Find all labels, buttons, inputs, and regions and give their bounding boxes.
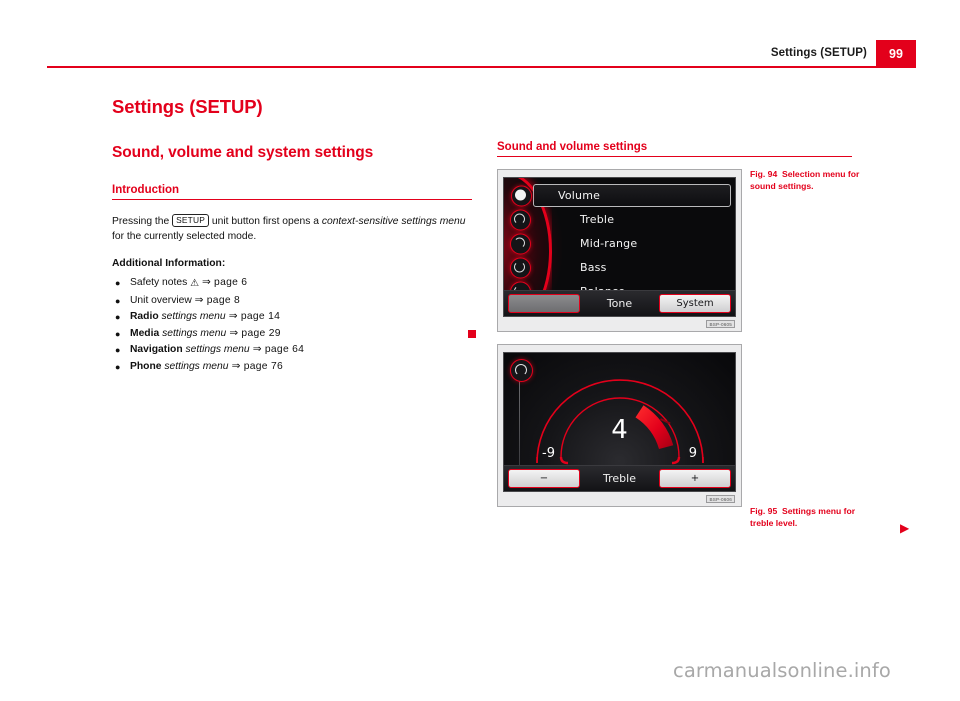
- subsection-title-sound-volume: Sound and volume settings: [497, 141, 917, 156]
- list-item-page-ref[interactable]: ⇒ page 8: [195, 295, 240, 306]
- bullet-icon: ●: [115, 309, 120, 326]
- additional-information-list: ●Safety notes ⚠ ⇒ page 6 ●Unit overview …: [112, 275, 472, 375]
- chapter-title: Settings (SETUP): [112, 96, 472, 118]
- right-figure-column: Sound and volume settings Volume Treble: [497, 141, 917, 507]
- bottom-bar-center-label: Treble: [580, 472, 659, 485]
- increase-button[interactable]: +: [659, 469, 731, 488]
- page-header: Settings (SETUP) 99: [0, 0, 960, 80]
- menu-item-label: Treble: [580, 213, 614, 226]
- list-item-page-ref[interactable]: ⇒ page 6: [202, 277, 247, 288]
- knob-icon-bass: [510, 257, 531, 278]
- menu-item-bass[interactable]: Bass: [533, 256, 731, 279]
- decrease-button[interactable]: −: [508, 469, 580, 488]
- device-screen-treble-settings: 4 -9 9 − Treble +: [503, 352, 736, 492]
- list-item: ●Unit overview ⇒ page 8: [112, 293, 472, 310]
- section-end-marker: [468, 330, 476, 338]
- list-item-bold: Radio: [130, 311, 159, 322]
- gauge-value: 4: [504, 415, 735, 445]
- menu-item-label: Bass: [580, 261, 607, 274]
- intro-text-before-key: Pressing the: [112, 216, 172, 227]
- list-item-bold: Phone: [130, 361, 161, 372]
- intro-text-after-key: unit button first opens a: [209, 216, 322, 227]
- bullet-icon: ●: [115, 342, 120, 359]
- list-item-page-ref[interactable]: ⇒ page 29: [226, 328, 281, 339]
- subsection-rule: [497, 156, 852, 157]
- treble-bottom-bar: − Treble +: [504, 465, 735, 491]
- treble-gauge: 4 -9 9: [504, 353, 735, 467]
- knob-icon-mid: [510, 233, 531, 254]
- selection-menu-bottom-bar: Tone System: [504, 290, 735, 316]
- bottom-bar-center-label: Tone: [580, 297, 659, 310]
- header-divider-rule: [47, 66, 885, 68]
- list-item: ●Navigation settings menu ⇒ page 64: [112, 342, 472, 359]
- bullet-icon: ●: [115, 275, 120, 292]
- device-frame-selection-menu: Volume Treble Mid-range Bass: [497, 169, 742, 332]
- subsection-title-introduction: Introduction: [112, 184, 472, 199]
- knob-icon-treble: [510, 209, 531, 230]
- gauge-min-label: -9: [542, 446, 555, 461]
- menu-item-treble[interactable]: Treble: [533, 208, 731, 231]
- system-button[interactable]: System: [659, 294, 731, 313]
- page-number-badge: 99: [876, 40, 916, 68]
- gauge-graphic: [504, 353, 736, 467]
- setup-key-glyph: SETUP: [172, 214, 209, 227]
- figure-95-caption: Fig. 95 Settings menu for treble level.: [750, 506, 880, 529]
- knob-stem-decoration: [519, 379, 520, 465]
- bullet-icon: ●: [115, 326, 120, 343]
- list-item-bold: Media: [130, 328, 159, 339]
- bullet-icon: ●: [115, 359, 120, 376]
- list-item: ●Radio settings menu ⇒ page 14: [112, 309, 472, 326]
- menu-item-volume[interactable]: Volume: [533, 184, 731, 207]
- figure-94-caption: Fig. 94 Selection menu for sound setting…: [750, 169, 880, 192]
- intro-italic-phrase: context-sensitive settings menu: [322, 216, 466, 227]
- knob-icon-full: [511, 185, 532, 206]
- introduction-paragraph: Pressing the SETUP unit button first ope…: [112, 214, 474, 244]
- subsection-sound-volume-heading: Sound and volume settings: [497, 141, 917, 157]
- menu-item-label: Mid-range: [580, 237, 637, 250]
- device-screen-selection-menu: Volume Treble Mid-range Bass: [503, 177, 736, 317]
- warning-triangle-icon: ⚠: [190, 278, 199, 289]
- intro-text-tail: for the currently selected mode.: [112, 231, 256, 242]
- figure-94-bsp-code: BSP-0605: [706, 320, 735, 328]
- list-item-italic: settings menu: [161, 311, 225, 322]
- list-item-normal: Unit overview: [130, 295, 195, 306]
- section-title: Sound, volume and system settings: [112, 144, 472, 162]
- list-item-normal: Safety notes: [130, 277, 190, 288]
- list-item-italic: settings menu: [186, 344, 250, 355]
- sound-settings-menu-list: Volume Treble Mid-range Bass: [504, 178, 735, 303]
- gauge-max-label: 9: [689, 446, 697, 461]
- bullet-icon: ●: [115, 293, 120, 310]
- subsection-introduction-heading: Introduction: [112, 184, 472, 200]
- list-item-italic: settings menu: [162, 328, 226, 339]
- list-item-bold: Navigation: [130, 344, 183, 355]
- figure-95-bsp-code: BSP-0606: [706, 495, 735, 503]
- list-item: ●Phone settings menu ⇒ page 76: [112, 359, 472, 376]
- list-item-page-ref[interactable]: ⇒ page 14: [226, 311, 281, 322]
- figure-95-block: 4 -9 9 − Treble + BSP-0606 Fig. 95 Setti…: [497, 344, 917, 507]
- additional-information-heading: Additional Information:: [112, 258, 472, 269]
- list-item-italic: settings menu: [164, 361, 228, 372]
- list-item: ●Media settings menu ⇒ page 29: [112, 326, 472, 343]
- bottom-bar-left-button[interactable]: [508, 294, 580, 313]
- list-item-page-ref[interactable]: ⇒ page 64: [250, 344, 305, 355]
- running-head-title: Settings (SETUP): [771, 47, 867, 59]
- watermark-text: carmanualsonline.info: [673, 659, 891, 682]
- figure-94-block: Volume Treble Mid-range Bass: [497, 169, 917, 332]
- continue-arrow-icon: ▶: [900, 522, 909, 534]
- list-item-page-ref[interactable]: ⇒ page 76: [228, 361, 283, 372]
- subsection-rule: [112, 199, 472, 200]
- device-frame-treble-settings: 4 -9 9 − Treble + BSP-0606: [497, 344, 742, 507]
- left-text-column: Settings (SETUP) Sound, volume and syste…: [112, 96, 472, 375]
- menu-item-label: Volume: [558, 189, 600, 202]
- figure-94-caption-number: Fig. 94: [750, 169, 777, 179]
- list-item: ●Safety notes ⚠ ⇒ page 6: [112, 275, 472, 293]
- menu-item-mid-range[interactable]: Mid-range: [533, 232, 731, 255]
- figure-95-caption-number: Fig. 95: [750, 506, 777, 516]
